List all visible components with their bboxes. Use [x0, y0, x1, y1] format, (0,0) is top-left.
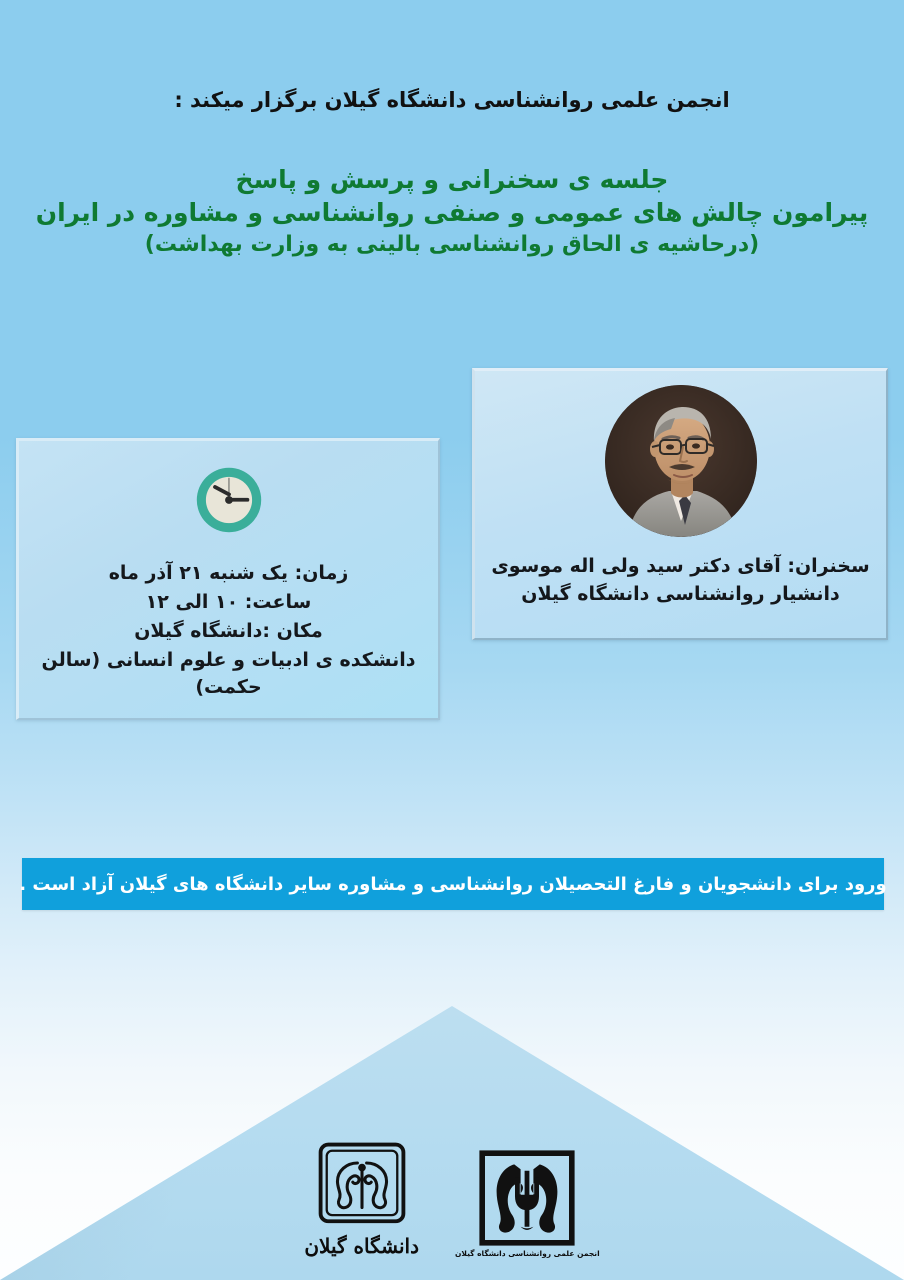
- detail-venue: دانشکده ی ادبیات و علوم انسانی (سالن حکم…: [19, 646, 438, 702]
- clock-icon: [194, 465, 264, 535]
- university-of-guilan-caption: دانشگاه گیلان: [304, 1234, 419, 1258]
- detail-date: زمان: یک شنبه ۲۱ آذر ماه: [19, 559, 438, 588]
- speaker-portrait-photo: [605, 385, 757, 537]
- admission-notice-text: ورود برای دانشجویان و فارغ التحصیلان روا…: [19, 874, 886, 895]
- logo-row: انجمن علمی روانشناسی دانشگاه گیلان دانشگ…: [0, 1140, 904, 1258]
- admission-notice-banner: ورود برای دانشجویان و فارغ التحصیلان روا…: [22, 858, 884, 910]
- poster-canvas: انجمن علمی روانشناسی دانشگاه گیلان برگزا…: [0, 0, 904, 1280]
- title-line-3: (درحاشیه ی الحاق روانشناسی بالینی به وزا…: [28, 230, 876, 259]
- psychology-association-logo: انجمن علمی روانشناسی دانشگاه گیلان: [455, 1150, 600, 1258]
- speaker-name: سخنران: آقای دکتر سید ولی اله موسوی: [475, 553, 886, 581]
- event-details-list: زمان: یک شنبه ۲۱ آذر ماه ساعت: ۱۰ الی ۱۲…: [19, 559, 438, 702]
- title-line-1: جلسه ی سخنرانی و پرسش و پاسخ: [28, 163, 876, 196]
- event-title: جلسه ی سخنرانی و پرسش و پاسخ پیرامون چال…: [28, 163, 876, 259]
- speaker-card: سخنران: آقای دکتر سید ولی اله موسوی دانش…: [472, 368, 888, 640]
- speaker-details: سخنران: آقای دکتر سید ولی اله موسوی دانش…: [475, 553, 886, 608]
- speaker-title: دانشیار روانشناسی دانشگاه گیلان: [475, 581, 886, 609]
- detail-time: ساعت: ۱۰ الی ۱۲: [19, 588, 438, 617]
- detail-place: مکان :دانشگاه گیلان: [19, 617, 438, 646]
- title-line-2: پیرامون چالش های عمومی و صنفی روانشناسی …: [28, 196, 876, 229]
- event-details-card: زمان: یک شنبه ۲۱ آذر ماه ساعت: ۱۰ الی ۱۲…: [16, 438, 440, 720]
- organizer-line: انجمن علمی روانشناسی دانشگاه گیلان برگزا…: [0, 88, 904, 112]
- university-of-guilan-logo: دانشگاه گیلان: [304, 1140, 419, 1258]
- psychology-association-caption: انجمن علمی روانشناسی دانشگاه گیلان: [455, 1249, 600, 1258]
